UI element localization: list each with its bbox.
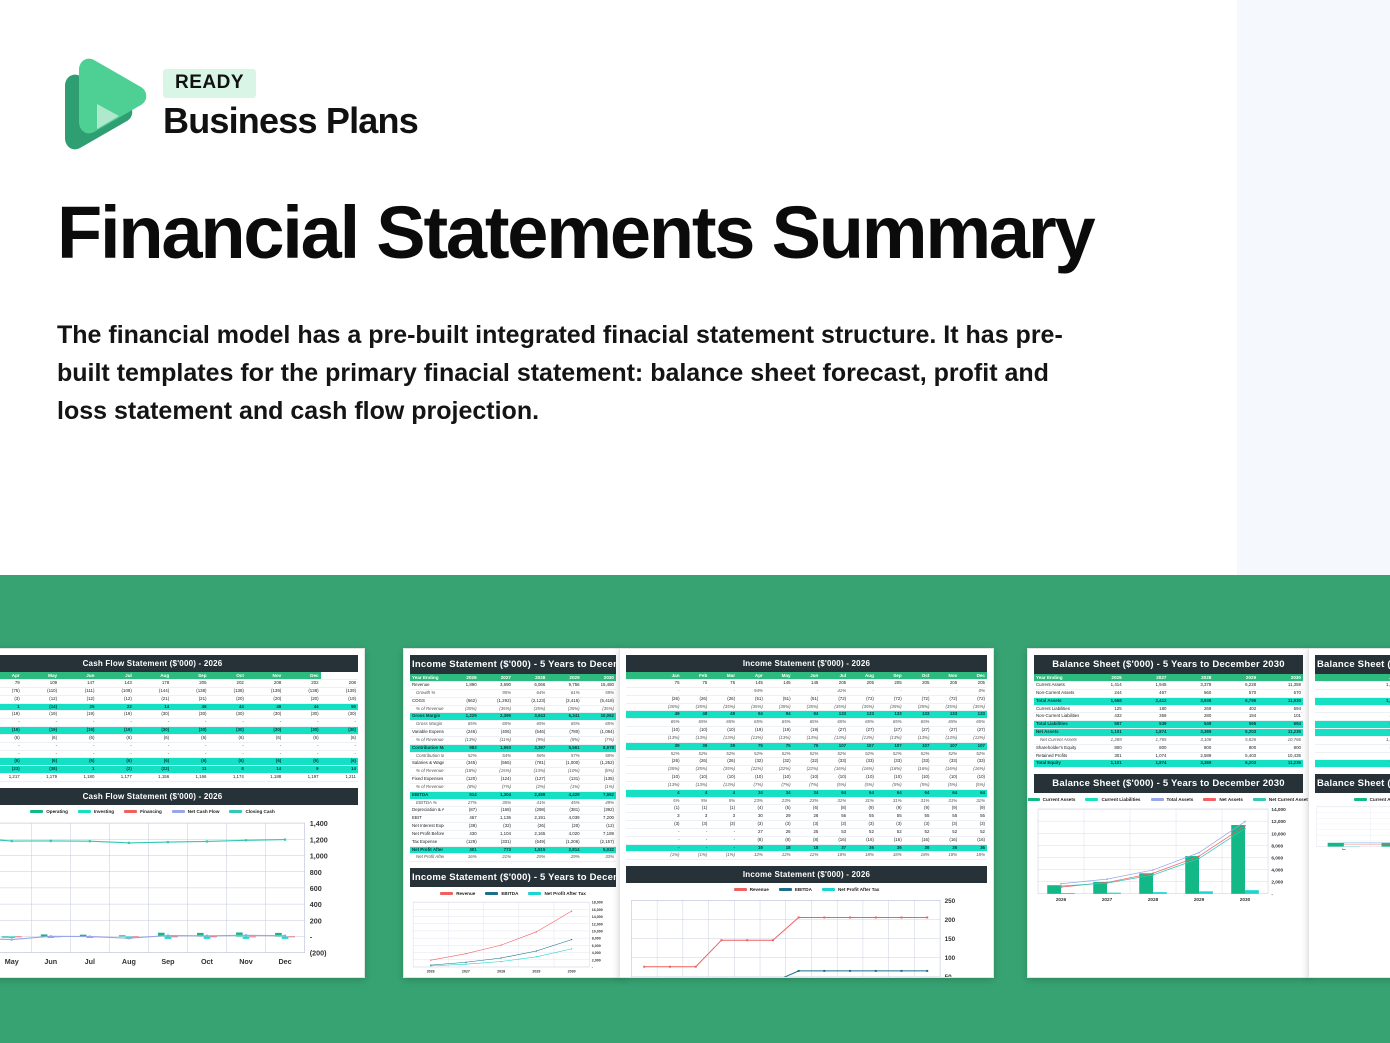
table-cell: 53: [820, 828, 848, 836]
table-cell: Total Equity: [1034, 760, 1079, 768]
table-cell: (16): [848, 836, 876, 844]
table-cell: -: [134, 742, 171, 750]
table-cell: 75: [793, 742, 821, 750]
table-cell: (124): [479, 776, 513, 784]
table-cell: (3): [959, 821, 987, 829]
table-cell: 1,074: [1124, 752, 1169, 760]
table-cell: Non-Current Assets: [1034, 689, 1079, 697]
table-cell: 75: [765, 742, 793, 750]
table-cell: 6,228: [1213, 682, 1258, 690]
table-cell: -: [0, 719, 22, 727]
table-cell: -: [709, 836, 737, 844]
table-cell: (10): [848, 774, 876, 782]
table-cell: 52%: [959, 750, 987, 758]
svg-text:Jul: Jul: [85, 957, 95, 966]
table-cell: (5%): [904, 781, 932, 789]
table-cell: (51): [737, 695, 765, 703]
table-cell: (19): [0, 711, 22, 719]
table-cell: (10): [931, 774, 959, 782]
table-cell: 28: [793, 813, 821, 821]
table-cell: (30): [134, 711, 171, 719]
table-cell: 1,136: [479, 815, 513, 823]
svg-text:Nov: Nov: [239, 957, 253, 966]
table-cell: 55: [876, 813, 904, 821]
table-cell: (13%): [682, 734, 710, 742]
svg-text:6,000: 6,000: [1271, 856, 1283, 861]
table-cell: (6): [96, 734, 133, 742]
table-cell: 4: [682, 789, 710, 797]
table-cell: 3,938: [1168, 697, 1213, 705]
column-header: Jun: [793, 672, 821, 680]
table-cell: [626, 703, 654, 711]
table-cell: (8): [765, 836, 793, 844]
table-cell: 6,066: [513, 682, 547, 690]
table-cell: Variable Expenses: [410, 729, 444, 737]
table-cell: 5,403: [1213, 752, 1258, 760]
table-cell: 18%: [931, 852, 959, 860]
table-cell: (6): [246, 734, 283, 742]
table-cell: 1,179: [22, 774, 59, 782]
table-cell: (138): [171, 687, 208, 695]
table-cell: 1,275: [1357, 736, 1390, 744]
column-header: 2028: [513, 674, 547, 682]
table-cell: (26): [709, 758, 737, 766]
legend-swatch: [78, 810, 91, 813]
table-cell: -: [96, 750, 133, 758]
table-cell: (9): [848, 805, 876, 813]
table-cell: 33%: [582, 854, 616, 862]
table-cell: [626, 797, 654, 805]
table-cell: 65%: [513, 721, 547, 729]
table-cell: 800: [1258, 744, 1303, 752]
legend-item: Total Assets: [1151, 797, 1194, 802]
table-row: (35%)(35%)(35%)(35%)(35%)(35%)(35%)(35%)…: [626, 703, 987, 711]
table-cell: 1,101: [1079, 729, 1124, 737]
table-row: 52%52%52%52%52%52%52%52%52%52%52%52%: [626, 750, 987, 758]
table-row: Current Assets1,4141,9453,3786,22811,359: [1034, 682, 1303, 690]
table-cell: Net Profit Before Tax: [410, 830, 444, 838]
table-cell: (23): [0, 766, 22, 774]
table-cell: 2,589: [1168, 752, 1213, 760]
legend-swatch: [528, 892, 541, 895]
table-cell: 3,108: [1168, 736, 1213, 744]
legend-item: Current Liabilities: [1085, 797, 1140, 802]
page-description: The financial model has a pre-built inte…: [57, 316, 1097, 430]
table-cell: (6): [0, 734, 22, 742]
sheet-table: JanFebMarAprMayJunJulAugSepOctNovDec7575…: [626, 672, 987, 860]
chart-block-balance-sheet-5yr: Balance Sheet ($'000) - 5 Years to Decem…: [1034, 774, 1303, 906]
table-cell: 64: [876, 789, 904, 797]
table-cell: (33): [848, 758, 876, 766]
table-cell: (19): [22, 711, 59, 719]
legend-item: Revenue: [440, 891, 475, 896]
svg-text:-: -: [592, 966, 594, 970]
table-cell: 29%: [547, 854, 581, 862]
legend-swatch: [172, 810, 185, 813]
column-header: [626, 672, 654, 680]
table-cell: (19): [793, 727, 821, 735]
table-cell: (406): [479, 729, 513, 737]
table-cell: (35%): [444, 705, 478, 713]
table-cell: (10): [654, 774, 682, 782]
table-cell: (3): [793, 821, 821, 829]
table-cell: -: [654, 844, 682, 852]
table-cell: 14: [246, 766, 283, 774]
table-cell: 94: [737, 711, 765, 719]
table-cell: (30): [171, 711, 208, 719]
table-cell: (135): [582, 776, 616, 784]
table-cell: -: [654, 687, 682, 695]
table-cell: (16%): [820, 766, 848, 774]
table-cell: 65%: [444, 721, 478, 729]
table-cell: 65%: [737, 719, 765, 727]
table-cell: (32): [737, 758, 765, 766]
table-cell: 1,289: [1079, 736, 1124, 744]
table-row: 1836: [1315, 689, 1390, 697]
svg-text:150: 150: [945, 936, 956, 943]
table-cell: 9,756: [547, 682, 581, 690]
screenshot-card-income-statement-5yr[interactable]: Income Statement ($'000) - 5 Years to De…: [403, 648, 623, 978]
table-cell: 4: [709, 789, 737, 797]
table-cell: 31%: [931, 797, 959, 805]
table-cell: (51): [765, 695, 793, 703]
legend-swatch: [779, 888, 792, 891]
table-row: (1)(1)(1)(4)(5)(6)(8)(9)(9)(9)(9)(9): [626, 805, 987, 813]
play-triangle-logo-icon: [57, 52, 149, 157]
table-cell: % of Revenue: [410, 705, 444, 713]
svg-text:14,000: 14,000: [592, 915, 603, 919]
screenshot-card-balance-sheet-2026[interactable]: Balance Sheet ($'000) - 2026JanFeb1,3411…: [1308, 648, 1390, 978]
table-row: (1%)(1%)(1%)12%12%12%18%18%18%18%18%18%: [626, 852, 987, 860]
table-cell: (16%): [931, 766, 959, 774]
table-row: Current Liabilities125180269402594: [1034, 705, 1303, 713]
table-row: ----------: [0, 719, 358, 727]
table-cell: -: [246, 719, 283, 727]
table-cell: (168): [479, 807, 513, 815]
table-row: % of Revenue(13%)(11%)(9%)(8%)(7%): [410, 736, 616, 744]
table-cell: (35%): [513, 705, 547, 713]
table-cell: (1,252): [582, 760, 616, 768]
table-cell: [626, 734, 654, 742]
table-cell: Current Assets: [1034, 682, 1079, 690]
svg-text:2030: 2030: [568, 970, 576, 974]
table-cell: (51): [793, 695, 821, 703]
table-cell: 14: [134, 703, 171, 711]
table-row: (1)(2): [1315, 752, 1390, 760]
table-row: 79109147143178205202208202208: [0, 680, 358, 688]
svg-text:Jun: Jun: [44, 957, 57, 966]
table-cell: 79: [0, 680, 22, 688]
table-cell: (3): [682, 821, 710, 829]
table-cell: (33): [820, 758, 848, 766]
table-cell: 205: [959, 680, 987, 688]
table-cell: -: [22, 750, 59, 758]
table-cell: 64%: [513, 689, 547, 697]
chart-plot: 14,00012,00010,0008,0006,0004,0002,000-J…: [1315, 805, 1390, 852]
table-cell: [626, 852, 654, 860]
table-cell: (10): [820, 774, 848, 782]
spreadsheet-balance-sheet-2026: Balance Sheet ($'000) - 2026JanFeb1,3411…: [1315, 655, 1390, 768]
table-cell: 94: [793, 711, 821, 719]
table-cell: [626, 727, 654, 735]
table-cell: (662): [444, 697, 478, 705]
table-row: Non-Current Liabilities432359280194101: [1034, 713, 1303, 721]
table-cell: (72): [820, 695, 848, 703]
table-row: Net Current Assets1,2891,7653,1085,82610…: [1034, 736, 1303, 744]
column-header: Aug: [848, 672, 876, 680]
table-cell: 5%: [654, 797, 682, 805]
column-header: 2026: [444, 674, 478, 682]
table-cell: 800: [1213, 744, 1258, 752]
table-cell: 52%: [820, 750, 848, 758]
table-cell: 36: [931, 844, 959, 852]
table-cell: -: [321, 742, 358, 750]
table-cell: (22%): [765, 766, 793, 774]
svg-text:100: 100: [945, 955, 956, 962]
table-cell: (381): [547, 807, 581, 815]
legend-swatch: [229, 810, 242, 813]
table-cell: 1,515: [513, 846, 547, 854]
sheet-title: Balance Sheet ($'000) - 5 Years to Decem…: [1034, 655, 1303, 674]
table-cell: (10): [682, 774, 710, 782]
table-cell: -: [246, 742, 283, 750]
table-row: Retained Profits3011,0742,5895,40310,435: [1034, 752, 1303, 760]
table-row: Tax Expense(129)(331)(649)(1,206)(2,157): [410, 838, 616, 846]
column-header: Jul: [820, 672, 848, 680]
chart-plot: 14,00012,00010,0008,0006,0004,0002,000-2…: [1034, 805, 1303, 906]
table-cell: 983: [444, 744, 478, 752]
table-cell: Gross Margin: [410, 713, 444, 721]
table-cell: (27): [904, 727, 932, 735]
table-cell: [626, 774, 654, 782]
table-cell: (6): [134, 758, 171, 766]
table-cell: 1,874: [1124, 760, 1169, 768]
table-cell: (16): [959, 836, 987, 844]
table-row: Net Profit Before Tax4301,1042,1654,0207…: [410, 830, 616, 838]
column-header: Year Ending: [1034, 674, 1079, 682]
table-cell: 25%: [513, 854, 547, 862]
brand-badge-ready: READY: [163, 69, 256, 98]
table-cell: (8): [820, 805, 848, 813]
table-cell: 26: [765, 828, 793, 836]
table-cell: 549: [1168, 721, 1213, 729]
table-cell: -: [793, 687, 821, 695]
table-cell: Total Liabilities: [1034, 721, 1079, 729]
svg-text:May: May: [5, 957, 19, 966]
table-cell: (19): [0, 727, 22, 735]
table-cell: (9%): [513, 736, 547, 744]
column-header: 2028: [1168, 674, 1213, 682]
table-cell: 595: [1213, 721, 1258, 729]
table-row: (35%)(35%)(35%)(22%)(22%)(22%)(16%)(16%)…: [626, 766, 987, 774]
table-cell: (5): [765, 805, 793, 813]
table-cell: (1): [682, 805, 710, 813]
table-cell: [626, 758, 654, 766]
table-cell: 75: [654, 680, 682, 688]
table-cell: 6,341: [547, 713, 581, 721]
table-cell: (13%): [654, 781, 682, 789]
table-cell: 52%: [444, 752, 478, 760]
table-cell: 5%: [682, 797, 710, 805]
table-cell: 23%: [765, 797, 793, 805]
column-header: Oct: [209, 672, 246, 680]
table-cell: 280: [1168, 713, 1213, 721]
screenshot-card-balance-sheet-5yr[interactable]: Balance Sheet ($'000) - 5 Years to Decem…: [1027, 648, 1310, 978]
table-cell: 34: [737, 789, 765, 797]
table-cell: 52: [931, 828, 959, 836]
table-cell: 432: [1079, 713, 1124, 721]
table-header-row: Year Ending20262027202820292030: [1034, 674, 1303, 682]
chart-block-income-statement-5yr: Income Statement ($'000) - 5 Years to De…: [410, 868, 616, 976]
table-cell: (13%): [444, 736, 478, 744]
table-cell: 18%: [959, 852, 987, 860]
table-cell: 25: [59, 703, 96, 711]
table-cell: (781): [513, 760, 547, 768]
table-cell: (19): [321, 695, 358, 703]
page-title: Financial Statements Summary: [57, 196, 1177, 270]
table-cell: [626, 828, 654, 836]
table-cell: 52%: [765, 750, 793, 758]
screenshot-card-cash-flow-2026[interactable]: Cash Flow Statement ($'000) - 2026AprMay…: [0, 648, 365, 978]
table-cell: 27: [737, 828, 765, 836]
legend-item: Net Assets: [1203, 797, 1243, 802]
table-cell: (12): [582, 823, 616, 831]
table-row: Contribution Margin %52%54%56%57%58%: [410, 752, 616, 760]
table-row: Net Interest Expense(38)(32)(26)(20)(12): [410, 823, 616, 831]
table-cell: 145: [793, 680, 821, 688]
table-cell: 52%: [793, 750, 821, 758]
table-row: (6)(6)(6)(6)(6)(6)(6)(6)(6)(6): [0, 758, 358, 766]
table-cell: (13%): [709, 734, 737, 742]
table-cell: [626, 687, 654, 695]
table-cell: (6): [171, 734, 208, 742]
svg-text:2026: 2026: [1056, 897, 1067, 902]
table-cell: 7,592: [582, 791, 616, 799]
svg-text:10,000: 10,000: [592, 930, 603, 934]
table-cell: 30: [737, 813, 765, 821]
table-cell: 4,429: [547, 791, 581, 799]
table-cell: (7%): [737, 781, 765, 789]
table-cell: 49: [246, 703, 283, 711]
table-cell: 133: [959, 711, 987, 719]
table-cell: (144): [134, 687, 171, 695]
table-cell: 36: [848, 844, 876, 852]
table-cell: 55: [904, 813, 932, 821]
table-cell: 570: [1213, 689, 1258, 697]
table-cell: 41%: [513, 799, 547, 807]
table-cell: (27): [848, 727, 876, 735]
table-cell: 402: [1213, 705, 1258, 713]
svg-text:800: 800: [310, 868, 322, 877]
table-cell: -: [209, 750, 246, 758]
table-cell: 133: [876, 711, 904, 719]
table-cell: (35%): [876, 703, 904, 711]
table-cell: 94: [765, 711, 793, 719]
table-cell: (10): [793, 774, 821, 782]
svg-text:250: 250: [945, 898, 956, 905]
table-row: 494949949494133133133133133133: [626, 711, 987, 719]
table-cell: (6): [209, 758, 246, 766]
table-cell: 799: [1357, 760, 1390, 768]
table-header-row: Year Ending20262027202820292030: [410, 674, 616, 682]
table-cell: 1,658: [1079, 697, 1124, 705]
table-cell: Current Liabilities: [1034, 705, 1079, 713]
table-cell: (6): [321, 734, 358, 742]
table-cell: -: [134, 750, 171, 758]
table-cell: 2,165: [513, 830, 547, 838]
table-cell: 1,104: [479, 830, 513, 838]
table-cell: (1%): [682, 852, 710, 860]
table-cell: (18%): [444, 768, 478, 776]
legend-item: Net Profit After Tax: [822, 887, 879, 892]
table-cell: 49: [709, 711, 737, 719]
table-row: Variable Expenses(246)(406)(546)(780)(1,…: [410, 729, 616, 737]
legend-item: Financing: [124, 809, 162, 814]
table-cell: 55: [848, 813, 876, 821]
table-row: (23)(38)1(2)(22)11814914: [0, 766, 358, 774]
table-cell: 54%: [479, 752, 513, 760]
table-cell: (22%): [737, 766, 765, 774]
table-cell: (35%): [709, 703, 737, 711]
table-cell: (8%): [547, 736, 581, 744]
svg-text:8,000: 8,000: [592, 937, 601, 941]
svg-text:-: -: [1271, 892, 1273, 897]
table-cell: 800: [1168, 744, 1213, 752]
table-cell: 1,197: [283, 774, 320, 782]
legend-item: EBITDA: [779, 887, 812, 892]
svg-text:2027: 2027: [1102, 897, 1113, 902]
table-cell: (13%): [876, 734, 904, 742]
table-cell: (3): [876, 821, 904, 829]
table-cell: (12): [59, 695, 96, 703]
table-cell: 44: [283, 703, 320, 711]
table-cell: (1,084): [582, 729, 616, 737]
screenshot-card-income-statement-2026[interactable]: Income Statement ($'000) - 2026JanFebMar…: [619, 648, 994, 978]
table-cell: -: [283, 742, 320, 750]
table-cell: 107: [848, 742, 876, 750]
table-cell: (35%): [737, 703, 765, 711]
table-cell: 1,211: [321, 774, 358, 782]
column-header: Apr: [0, 672, 22, 680]
table-cell: (9): [876, 805, 904, 813]
table-cell: (35%): [654, 766, 682, 774]
svg-text:-: -: [310, 932, 313, 941]
table-cell: 64: [848, 789, 876, 797]
table-cell: % of Revenue: [410, 768, 444, 776]
table-cell: (27): [959, 727, 987, 735]
table-cell: % of Revenue: [410, 736, 444, 744]
table-cell: (4): [737, 805, 765, 813]
table-cell: Net Profit After Tax %: [410, 854, 444, 862]
svg-text:2029: 2029: [1194, 897, 1205, 902]
column-header: Sep: [171, 672, 208, 680]
table-row: EBITDA5141,3042,4884,4297,592: [410, 791, 616, 799]
table-cell: 560: [1168, 689, 1213, 697]
table-cell: (2%): [513, 783, 547, 791]
table-cell: 3,690: [479, 682, 513, 690]
table-cell: 49: [682, 711, 710, 719]
table-row: ---272625535252525252: [626, 828, 987, 836]
table-cell: -: [59, 742, 96, 750]
legend-swatch: [1027, 798, 1040, 801]
table-cell: Revenue: [410, 682, 444, 690]
column-header: Jun: [59, 672, 96, 680]
table-row: (3)(3)(3)(3)(3)(3)(3)(3)(3)(3)(3)(3): [626, 821, 987, 829]
table-cell: (2): [96, 766, 133, 774]
chart-plot: 25020015010050-(50)JanFebMarAprMayJunJul…: [626, 895, 987, 978]
table-cell: (38): [444, 823, 478, 831]
table-cell: 9: [283, 766, 320, 774]
